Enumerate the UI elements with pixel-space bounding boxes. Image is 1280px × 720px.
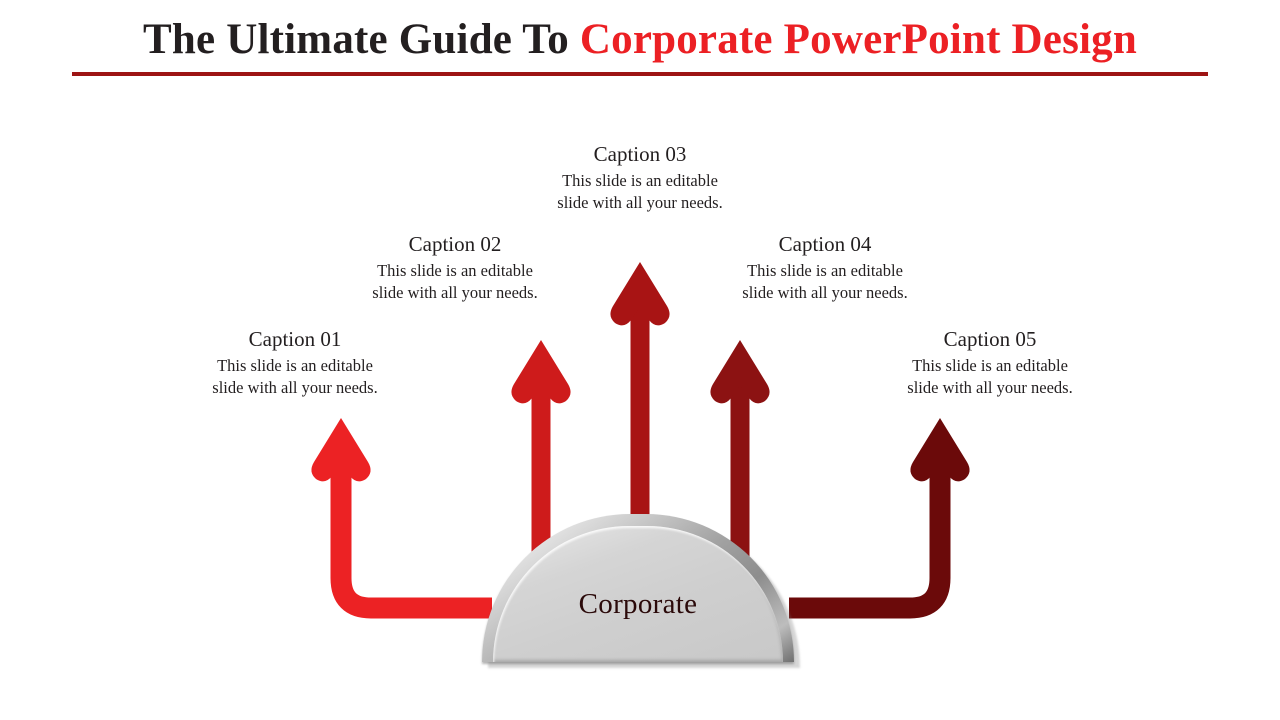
caption-body-line-2: slide with all your needs. — [850, 377, 1130, 399]
caption-title-03: Caption 03 — [500, 141, 780, 167]
caption-body-01: This slide is an editable slide with all… — [155, 355, 435, 399]
diagram-stage: Corporate Caption 01 This slide is an ed… — [0, 0, 1280, 720]
caption-block-05[interactable]: Caption 05 This slide is an editable sli… — [850, 326, 1130, 399]
caption-body-line-1: This slide is an editable — [500, 170, 780, 192]
caption-body-line-1: This slide is an editable — [155, 355, 435, 377]
caption-body-line-1: This slide is an editable — [315, 260, 595, 282]
caption-body-05: This slide is an editable slide with all… — [850, 355, 1130, 399]
caption-body-02: This slide is an editable slide with all… — [315, 260, 595, 304]
caption-body-03: This slide is an editable slide with all… — [500, 170, 780, 214]
caption-body-line-2: slide with all your needs. — [155, 377, 435, 399]
caption-body-line-1: This slide is an editable — [850, 355, 1130, 377]
center-dome-label: Corporate — [482, 588, 794, 621]
caption-body-line-2: slide with all your needs. — [500, 192, 780, 214]
caption-title-04: Caption 04 — [685, 231, 965, 257]
center-dome[interactable]: Corporate — [482, 512, 800, 668]
caption-block-04[interactable]: Caption 04 This slide is an editable sli… — [685, 231, 965, 304]
center-dome-frame: Corporate — [482, 514, 794, 662]
caption-block-01[interactable]: Caption 01 This slide is an editable sli… — [155, 326, 435, 399]
caption-title-02: Caption 02 — [315, 231, 595, 257]
arrow-05[interactable] — [789, 418, 970, 608]
caption-body-line-2: slide with all your needs. — [315, 282, 595, 304]
arrow-01[interactable] — [311, 418, 492, 608]
caption-title-05: Caption 05 — [850, 326, 1130, 352]
caption-block-03[interactable]: Caption 03 This slide is an editable sli… — [500, 141, 780, 214]
caption-body-04: This slide is an editable slide with all… — [685, 260, 965, 304]
slide-canvas: The Ultimate Guide To Corporate PowerPoi… — [0, 0, 1280, 720]
caption-title-01: Caption 01 — [155, 326, 435, 352]
caption-block-02[interactable]: Caption 02 This slide is an editable sli… — [315, 231, 595, 304]
caption-body-line-2: slide with all your needs. — [685, 282, 965, 304]
caption-body-line-1: This slide is an editable — [685, 260, 965, 282]
